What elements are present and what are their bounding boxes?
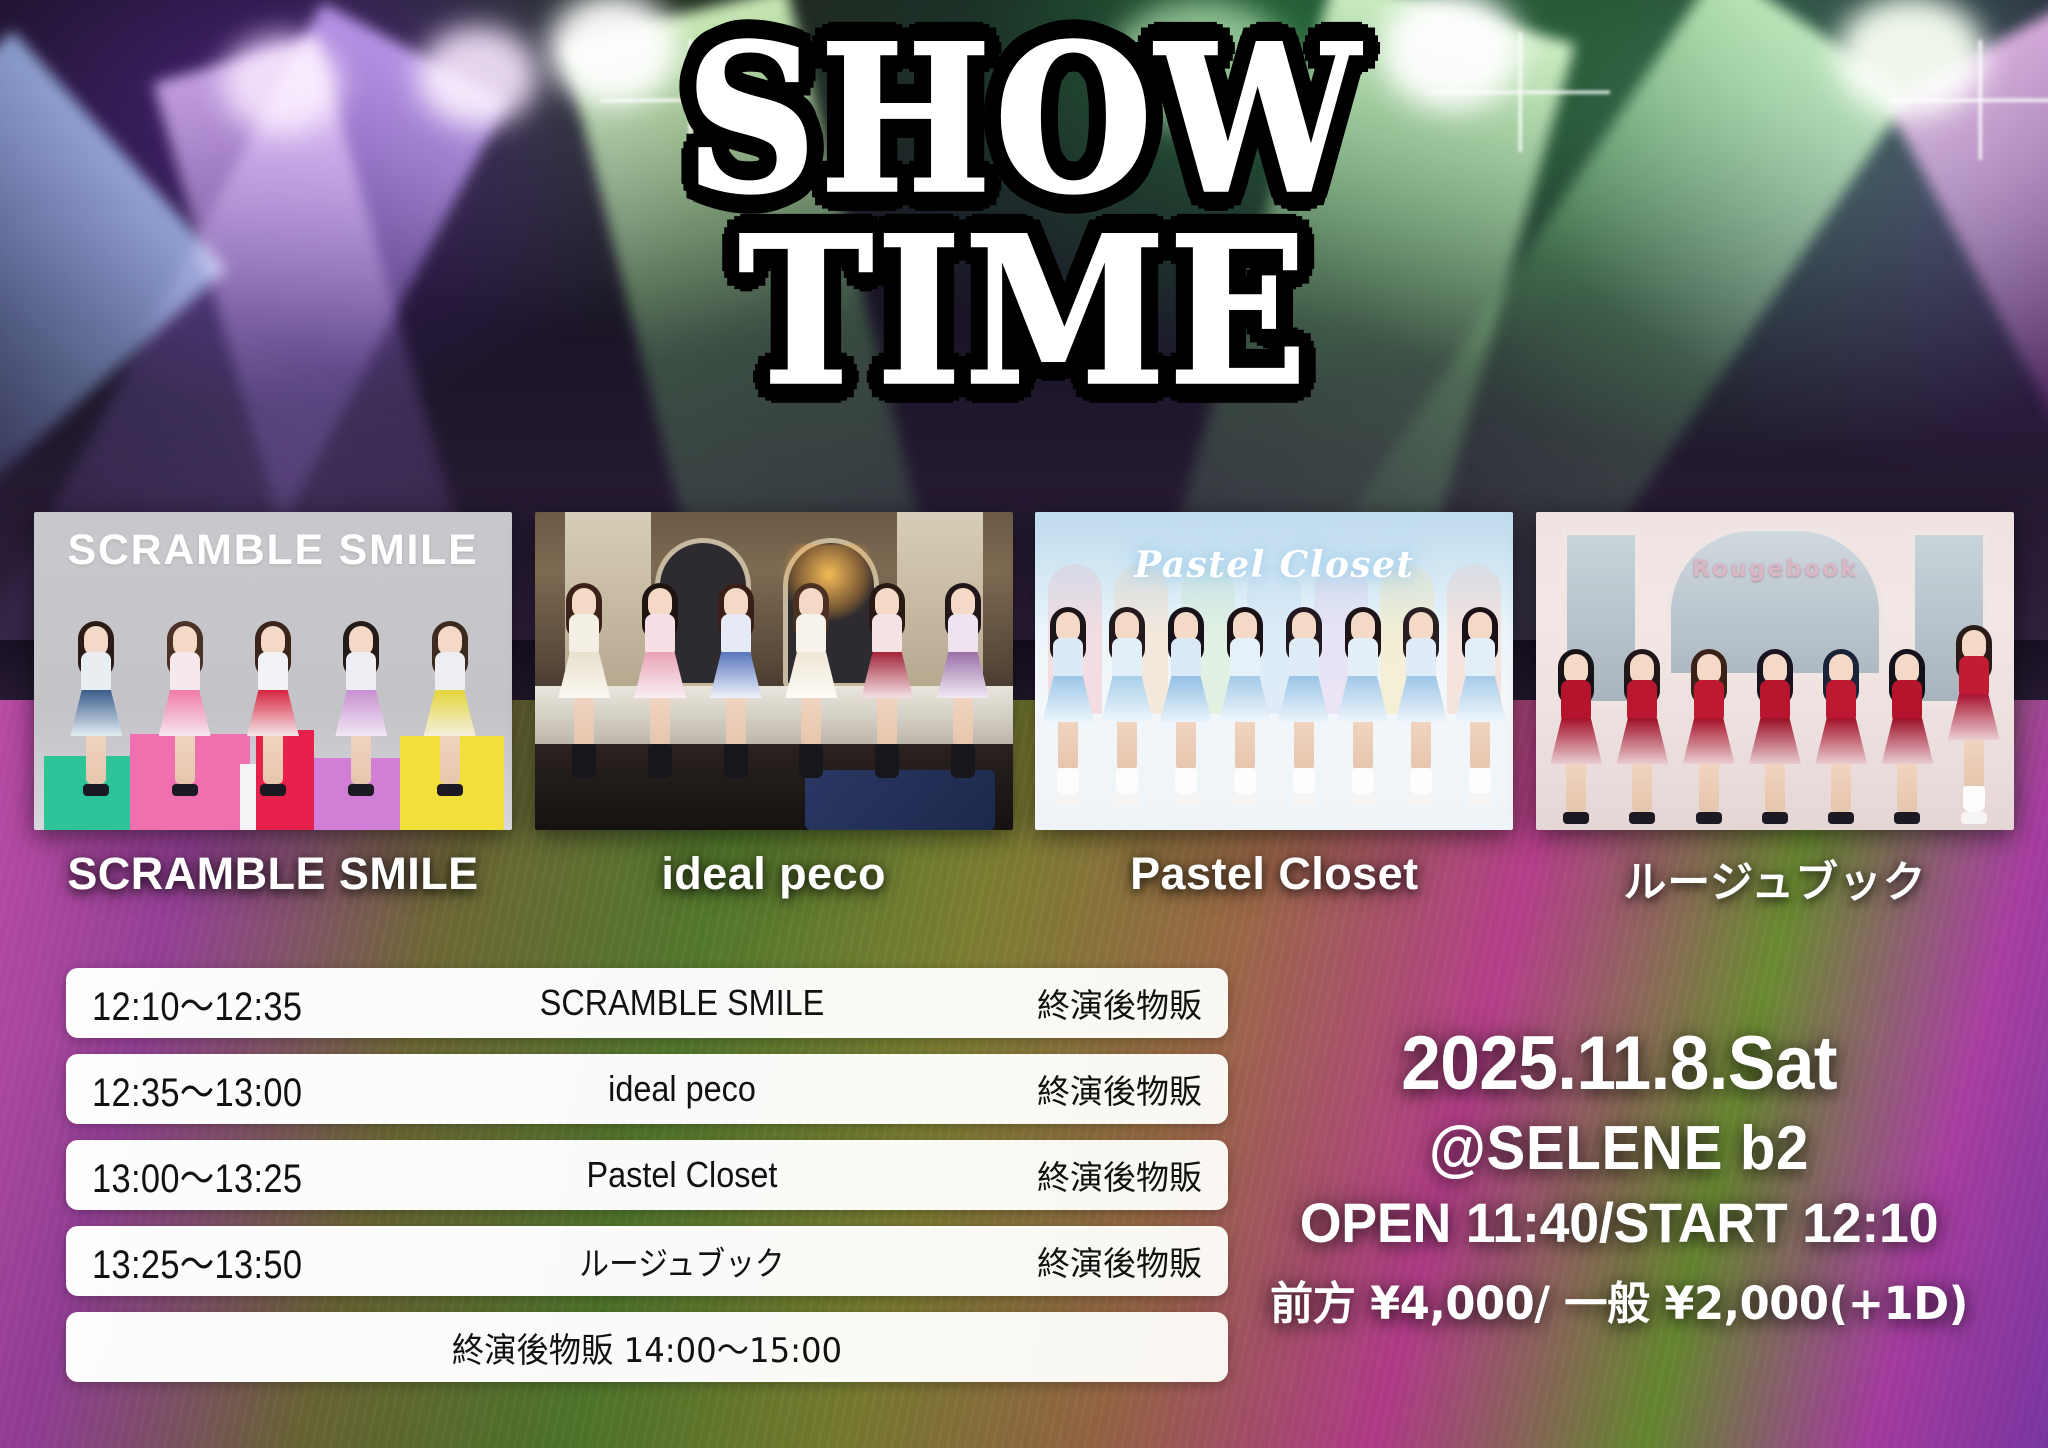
member-figures bbox=[1536, 574, 2014, 824]
schedule-act: ルージュブック bbox=[448, 1237, 916, 1285]
member-figures bbox=[1035, 580, 1513, 806]
event-title: SHOW TIME bbox=[0, 30, 2048, 401]
table-row: 12:10〜12:35 SCRAMBLE SMILE 終演後物販 bbox=[66, 968, 1228, 1038]
schedule-act: ideal peco bbox=[448, 1068, 916, 1110]
event-price: 前方 ¥4,000/ 一般 ¥2,000(+1D) bbox=[1240, 1267, 1998, 1332]
schedule-time: 13:25〜13:50 bbox=[92, 1232, 376, 1290]
artist-name-label: SCRAMBLE SMILE bbox=[34, 848, 512, 900]
table-row-footer: 終演後物販 14:00〜15:00 bbox=[66, 1312, 1228, 1382]
artist-lineup: SCRAMBLE SMILE SCRAMBLE SMILE bbox=[0, 512, 2048, 910]
artist-card[interactable]: Pastel Closet Pastel Closet bbox=[1035, 512, 1513, 910]
event-date: 2025.11.8.Sat bbox=[1248, 1020, 1991, 1107]
concert-flyer: SHOW TIME SCRAMBLE SMILE bbox=[0, 0, 2048, 1448]
schedule-note: 終演後物販 bbox=[942, 979, 1202, 1027]
member-figures bbox=[535, 564, 1013, 778]
table-row: 12:35〜13:00 ideal peco 終演後物販 bbox=[66, 1054, 1228, 1124]
artist-name-label: ideal peco bbox=[535, 848, 1013, 900]
merch-footer-text: 終演後物販 14:00〜15:00 bbox=[120, 1323, 1175, 1372]
event-times: OPEN 11:40/START 12:10 bbox=[1240, 1190, 1998, 1255]
artist-photo-ideal-peco bbox=[535, 512, 1013, 830]
artist-card[interactable]: SCRAMBLE SMILE SCRAMBLE SMILE bbox=[34, 512, 512, 910]
schedule-note: 終演後物販 bbox=[942, 1151, 1202, 1199]
schedule-act: Pastel Closet bbox=[448, 1154, 916, 1196]
schedule-time: 12:35〜13:00 bbox=[92, 1060, 376, 1118]
event-venue: @SELENE b2 bbox=[1248, 1113, 1991, 1184]
schedule-time: 13:00〜13:25 bbox=[92, 1146, 376, 1204]
artist-card[interactable]: ideal peco bbox=[535, 512, 1013, 910]
artist-photo-scramble-smile: SCRAMBLE SMILE bbox=[34, 512, 512, 830]
event-info: 2025.11.8.Sat @SELENE b2 OPEN 11:40/STAR… bbox=[1224, 1020, 2014, 1332]
schedule-note: 終演後物販 bbox=[942, 1065, 1202, 1113]
artist-photo-pastel-closet: Pastel Closet bbox=[1035, 512, 1513, 830]
member-figures bbox=[34, 586, 512, 796]
artist-card[interactable]: Rougebook ルージュブック bbox=[1536, 512, 2014, 910]
artist-name-label: ルージュブック bbox=[1536, 848, 2014, 910]
title-line-show: SHOW bbox=[685, 19, 1362, 219]
schedule-table: 12:10〜12:35 SCRAMBLE SMILE 終演後物販 12:35〜1… bbox=[66, 968, 1228, 1382]
artist-name-label: Pastel Closet bbox=[1035, 848, 1513, 900]
title-line-time: TIME bbox=[738, 212, 1310, 412]
table-row: 13:25〜13:50 ルージュブック 終演後物販 bbox=[66, 1226, 1228, 1296]
photo-logo: SCRAMBLE SMILE bbox=[34, 526, 512, 575]
schedule-act: SCRAMBLE SMILE bbox=[448, 982, 916, 1024]
schedule-time: 12:10〜12:35 bbox=[92, 974, 376, 1032]
artist-photo-rougebook: Rougebook bbox=[1536, 512, 2014, 830]
schedule-note: 終演後物販 bbox=[942, 1237, 1202, 1285]
table-row: 13:00〜13:25 Pastel Closet 終演後物販 bbox=[66, 1140, 1228, 1210]
